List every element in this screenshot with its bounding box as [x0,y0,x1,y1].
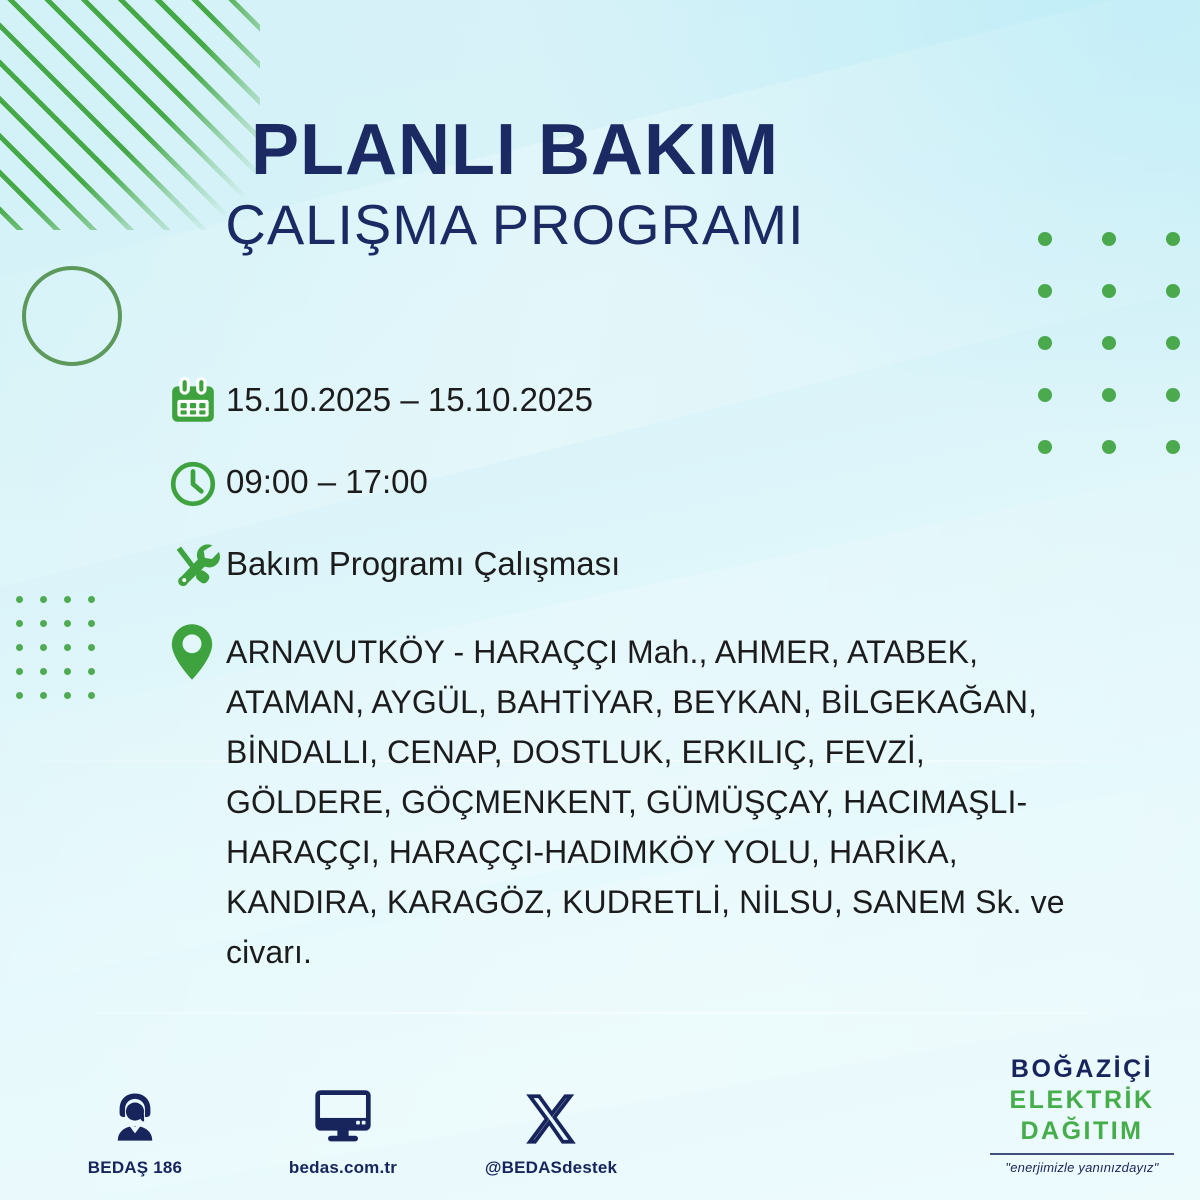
info-list: 15.10.2025 – 15.10.2025 09:00 – 17:00 [168,376,1128,977]
title-secondary: ÇALIŞMA PROGRAMI [0,194,1200,256]
info-row-work-type: Bakım Programı Çalışması [168,540,1128,592]
background-wave-line [0,1012,1200,1014]
logo-line-elektrik: ELEKTRİK [984,1088,1180,1113]
circle-outline-decoration [22,266,122,366]
logo-line-bogazici: BOĞAZİÇİ [984,1057,1180,1082]
info-row-date: 15.10.2025 – 15.10.2025 [168,376,1128,428]
tools-icon [168,540,226,592]
poster-canvas: PLANLI BAKIM ÇALIŞMA PROGRAMI [0,0,1200,1200]
page-title: PLANLI BAKIM ÇALIŞMA PROGRAMI [0,112,1200,256]
address-text: ARNAVUTKÖY - HARAÇÇI Mah., AHMER, ATABEK… [226,622,1081,977]
logo-line-dagitim: DAĞITIM [984,1119,1180,1144]
work-type-text: Bakım Programı Çalışması [226,540,620,583]
calendar-icon [168,376,226,428]
location-pin-icon [168,622,226,678]
time-range-text: 09:00 – 17:00 [226,458,428,501]
bedas-logo: BOĞAZİÇİ ELEKTRİK DAĞITIM "enerjimizle y… [984,1057,1180,1174]
contact-x-account[interactable]: @BEDASdestek [476,1082,626,1178]
info-row-address: ARNAVUTKÖY - HARAÇÇI Mah., AHMER, ATABEK… [168,622,1128,977]
logo-divider [990,1153,1174,1155]
monitor-icon [268,1082,418,1146]
call-center-agent-icon [60,1082,210,1146]
date-range-text: 15.10.2025 – 15.10.2025 [226,376,593,419]
logo-tagline: "enerjimizle yanınızdayız" [984,1161,1180,1174]
contact-phone[interactable]: BEDAŞ 186 [60,1082,210,1178]
clock-icon [168,458,226,510]
title-primary: PLANLI BAKIM [0,112,1200,188]
footer-contacts: BEDAŞ 186 bedas.com.tr @B [60,1082,626,1178]
contact-website-label: bedas.com.tr [268,1158,418,1178]
contact-website[interactable]: bedas.com.tr [268,1082,418,1178]
info-row-time: 09:00 – 17:00 [168,458,1128,510]
contact-x-label: @BEDASdestek [476,1158,626,1178]
contact-phone-label: BEDAŞ 186 [60,1158,210,1178]
dot-grid-left-decoration [16,596,112,716]
x-twitter-icon [476,1082,626,1146]
